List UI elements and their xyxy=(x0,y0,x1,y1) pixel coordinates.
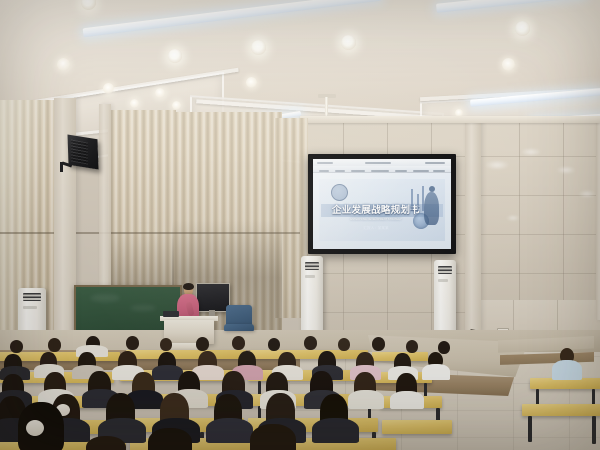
ppt-ribbon-item-a xyxy=(319,170,329,172)
table-row-right xyxy=(522,404,600,416)
presenter-hair xyxy=(183,283,194,290)
desk-leg xyxy=(528,416,532,442)
audience-head xyxy=(304,336,317,350)
speaker-bracket-arm xyxy=(60,162,63,172)
table-row xyxy=(126,350,246,359)
audience-hair-foreground xyxy=(250,424,296,450)
audience-body xyxy=(422,364,450,380)
curtain-rod-line xyxy=(0,232,300,234)
downlight-7 xyxy=(502,58,515,71)
wall-cornice-right xyxy=(300,116,600,123)
downlight-8 xyxy=(103,83,114,94)
audience-head xyxy=(406,340,418,353)
hair-scrunchie-foreground xyxy=(26,420,44,436)
ac-panel-center xyxy=(305,275,315,278)
downlight-2 xyxy=(251,40,266,55)
wall-reflection-5 xyxy=(578,190,596,198)
wall-pillar-right-2 xyxy=(596,120,600,320)
audience-body xyxy=(312,418,359,443)
audience-head xyxy=(48,338,61,352)
slide-logo-icon xyxy=(331,184,348,201)
table-row xyxy=(250,350,368,359)
downlight-3 xyxy=(168,49,182,63)
ac-vent-left-icon xyxy=(23,293,41,301)
slide-graphic-bar-1 xyxy=(411,189,413,211)
ppt-ribbon-item-g xyxy=(433,170,445,172)
audience-head xyxy=(126,336,139,350)
projection-screen[interactable]: 企业发展战略规划书 ENTERPRISE DEVELOPMENT STRATEG… xyxy=(313,159,451,249)
lectern-equipment xyxy=(163,311,179,317)
slide-figure-silhouette xyxy=(424,192,439,225)
downlight-6 xyxy=(57,58,70,71)
audience-hair-foreground xyxy=(148,428,192,450)
downlight-4 xyxy=(341,35,356,50)
table-row xyxy=(382,420,452,434)
downlight-10 xyxy=(130,99,139,108)
lecture-hall-photo: 企业发展战略规划书 ENTERPRISE DEVELOPMENT STRATEG… xyxy=(0,0,600,450)
stage-chair-seat xyxy=(224,324,254,331)
audience-head xyxy=(232,336,245,350)
wall-reflection-3 xyxy=(556,166,576,174)
audience-hair-foreground xyxy=(86,436,126,450)
chalkboard-smudge-2 xyxy=(130,305,156,311)
ppt-titlebar-text-b xyxy=(365,162,391,164)
downlight-11 xyxy=(172,101,181,110)
ac-panel-left xyxy=(23,306,37,309)
speaker-grill-icon xyxy=(71,139,88,164)
wall-reflection-1 xyxy=(484,160,510,170)
wall-reflection-6 xyxy=(506,215,520,221)
ac-panel-right xyxy=(438,279,448,282)
downlight-12 xyxy=(246,77,257,88)
stage-monitor xyxy=(196,283,230,312)
ppt-ribbon-item-e xyxy=(395,170,407,172)
audience-head xyxy=(196,337,209,351)
audience-head xyxy=(268,338,280,351)
downlight-5 xyxy=(515,21,530,36)
wall-pillar-right-1 xyxy=(465,120,481,332)
audience-body-right xyxy=(552,360,582,380)
ac-vent-right-icon xyxy=(438,266,452,274)
desk-leg xyxy=(592,416,596,444)
wall-reflection-2 xyxy=(520,148,542,156)
audience-head xyxy=(10,340,23,353)
audience-head xyxy=(160,338,172,351)
slide-graphic-bar-2 xyxy=(417,194,419,211)
audience-head xyxy=(338,338,350,351)
ppt-ribbon-item-f xyxy=(413,170,429,172)
ppt-ribbon-item-d xyxy=(371,170,389,172)
audience-body xyxy=(206,418,253,443)
chalkboard-smudge-1 xyxy=(90,294,120,302)
audience-head xyxy=(372,337,385,351)
audience-body xyxy=(390,391,424,409)
audience-head xyxy=(438,341,450,354)
ppt-ribbon-item-c xyxy=(351,170,365,172)
downlight-9 xyxy=(155,88,165,98)
audience-body xyxy=(348,390,384,409)
ac-vent-center-icon xyxy=(305,262,319,270)
ppt-ribbon-item-b xyxy=(335,170,345,172)
ppt-titlebar-text-c xyxy=(425,162,445,164)
ppt-titlebar-text-a xyxy=(317,162,333,164)
